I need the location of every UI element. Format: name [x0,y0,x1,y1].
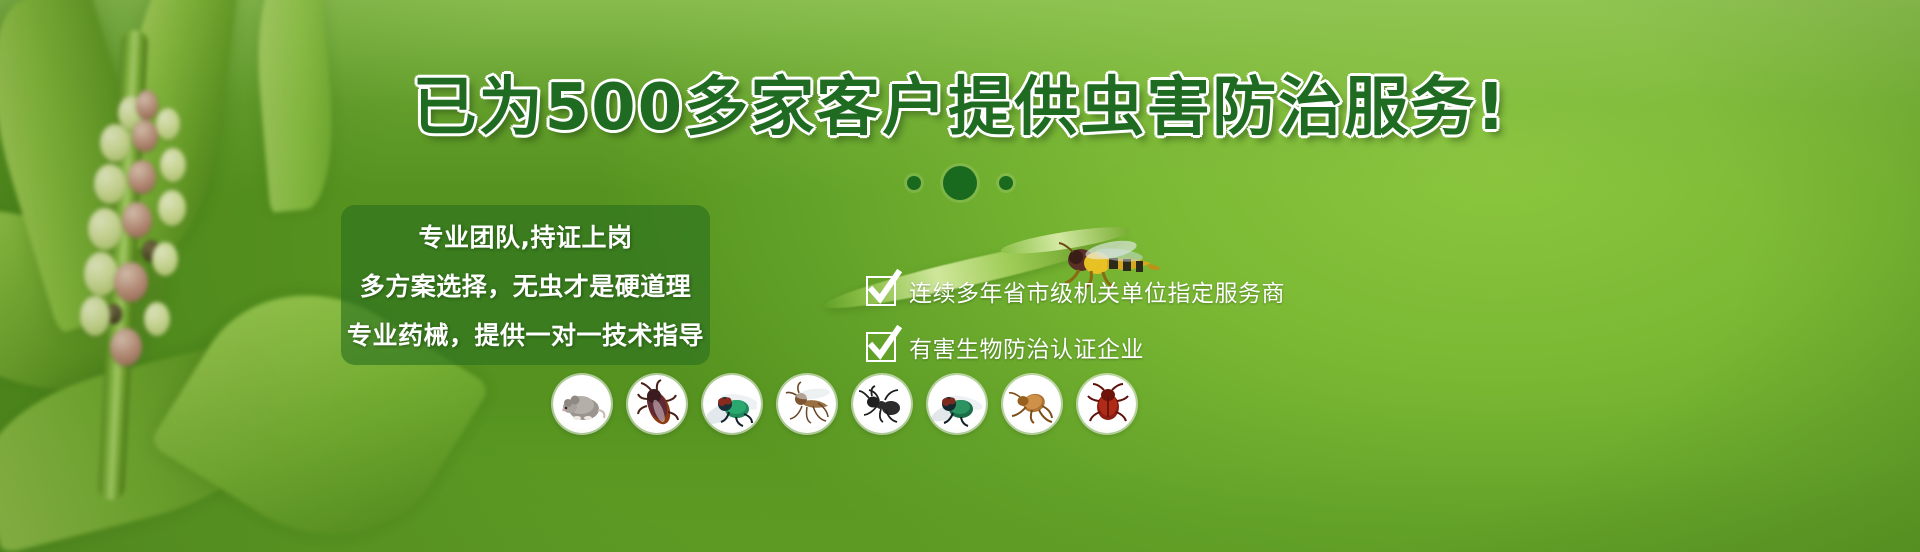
pest-icon-row: 鼠类 蟑螂 [553,375,1136,433]
checklist-item: 有害生物防治认证企业 [866,330,1285,364]
mosquito-icon[interactable]: 蚊子 [778,375,836,433]
credential-checklist: 连续多年省市级机关单位指定服务商 有害生物防治认证企业 [866,274,1285,364]
ant-icon[interactable]: 蚂蚁 [853,375,911,433]
cockroach-icon[interactable]: 蟑螂 [628,375,686,433]
bottlefly-icon[interactable]: 绿头苍蝇 [703,375,761,433]
slogan-line-2: 多方案选择，无虫才是硬道理 [360,267,692,303]
bedbug-icon[interactable]: 臭虫 [1078,375,1136,433]
checklist-item: 连续多年省市级机关单位指定服务商 [866,274,1285,308]
slogan-list: 专业团队,持证上岗 多方案选择，无虫才是硬道理 专业药械，提供一对一技术指导 [341,205,710,365]
checkmark-icon [866,276,896,306]
slogan-line-1: 专业团队,持证上岗 [419,218,633,254]
slogan-line-3: 专业药械，提供一对一技术指导 [347,316,704,352]
banner-headline-text: 已为500多家客户提供虫害防治服务! [413,71,1508,145]
pest-control-banner: 已为500多家客户提供虫害防治服务! 专业团队,持证上岗 多方案选择，无虫才是硬… [0,0,1920,552]
checklist-item-label: 有害生物防治认证企业 [909,330,1144,364]
dot-small-right [999,176,1013,190]
dots-divider [0,166,1920,200]
mouse-icon[interactable]: 鼠类 [553,375,611,433]
dot-small-left [907,176,921,190]
housefly-icon[interactable]: 苍蝇 [928,375,986,433]
flea-icon[interactable]: 跳蚤 [1003,375,1061,433]
checkmark-icon [866,332,896,362]
checklist-item-label: 连续多年省市级机关单位指定服务商 [909,274,1285,308]
dot-large-center [943,166,977,200]
banner-headline: 已为500多家客户提供虫害防治服务! [0,76,1920,140]
